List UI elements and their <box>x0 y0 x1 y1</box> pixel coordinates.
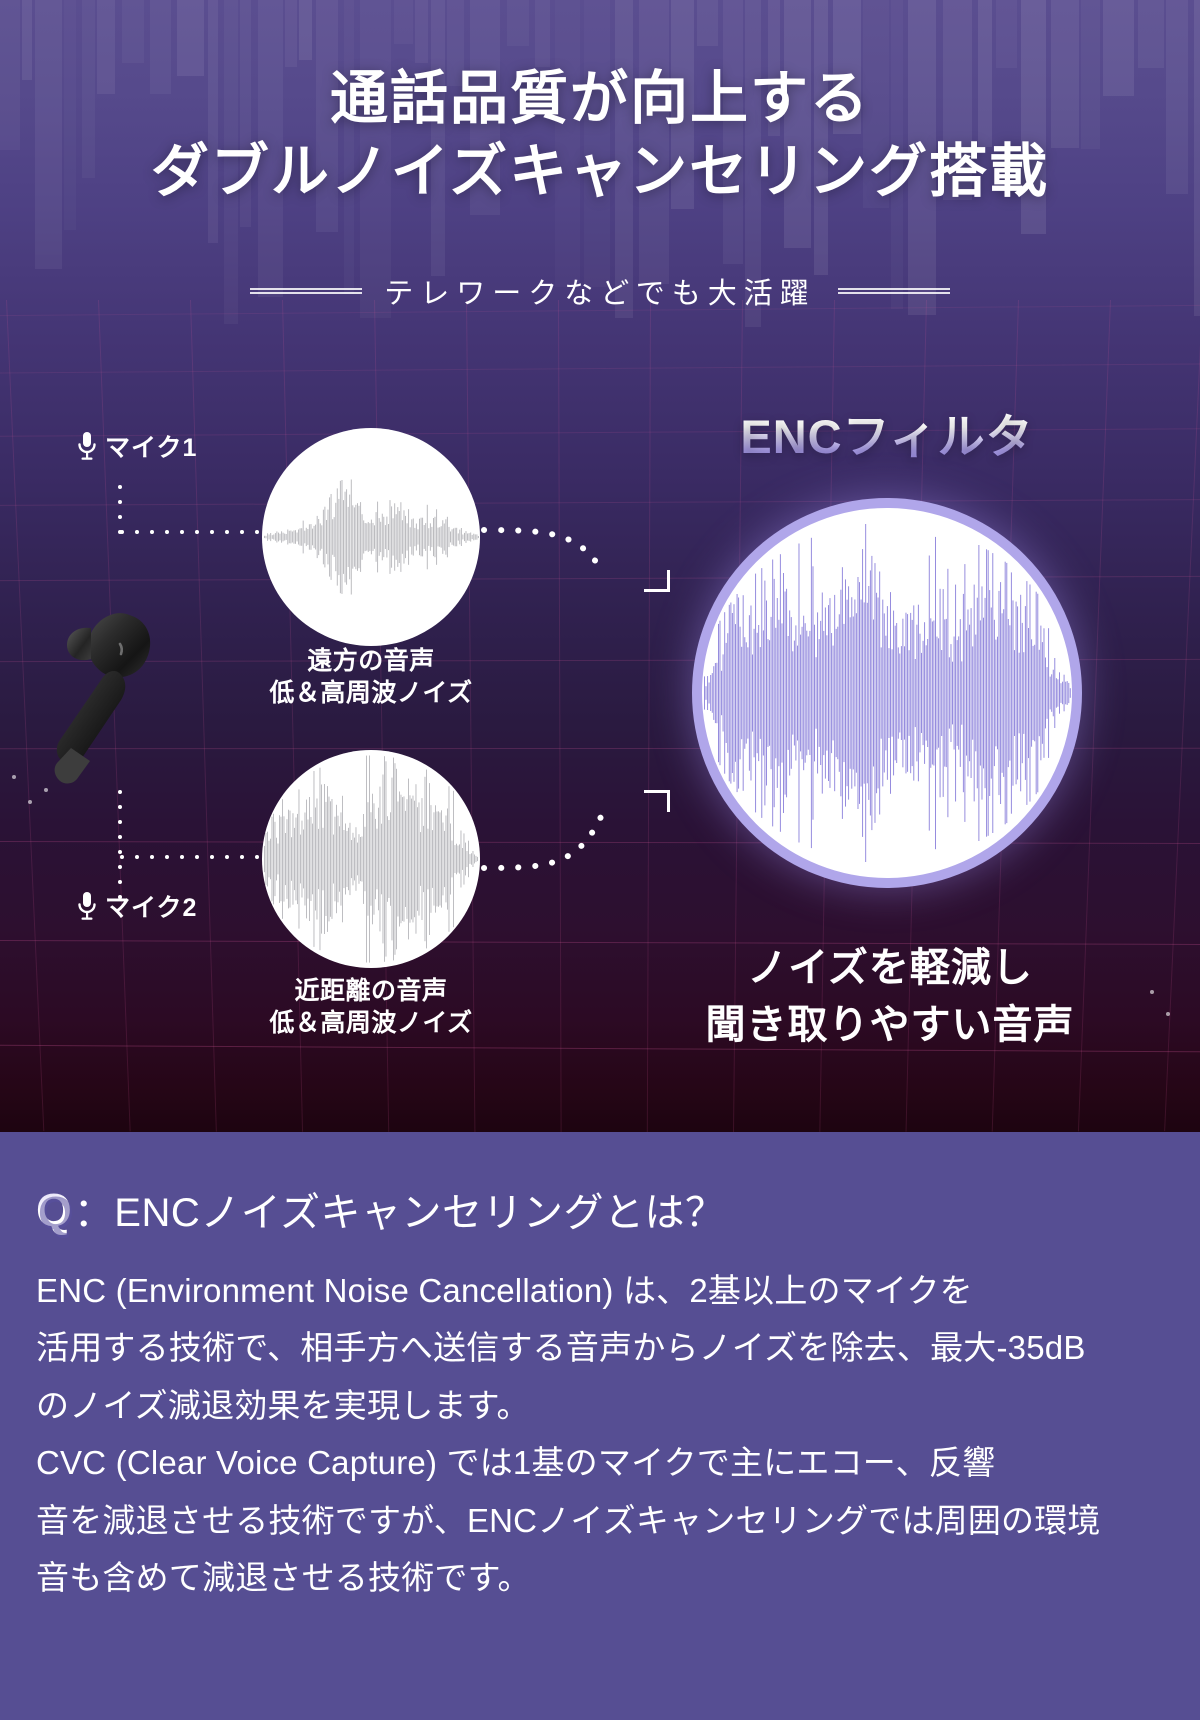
mic-1-label-text: マイク1 <box>105 428 197 464</box>
hero-section: 通話品質が向上する ダブルノイズキャンセリング搭載 テレワークなどでも大活躍 マ… <box>0 0 1200 1132</box>
caption-mic2-line2: 低＆高周波ノイズ <box>211 1007 531 1039</box>
hero-title-line-2: ダブルノイズキャンセリング搭載 <box>0 135 1200 208</box>
dotted-connector-mic2 <box>118 790 122 910</box>
infographic-page: 通話品質が向上する ダブルノイズキャンセリング搭載 テレワークなどでも大活躍 マ… <box>0 0 1200 1720</box>
caption-mic1-line1: 遠方の音声 <box>211 645 531 677</box>
waveform-grey-sparse <box>262 428 480 646</box>
waveform-circle-mic1 <box>262 428 480 646</box>
qa-answer-line-5: 音を減退させる技術ですが、ENCノイズキャンセリングでは周囲の環境 <box>36 1492 1171 1549</box>
hero-title-block: 通話品質が向上する ダブルノイズキャンセリング搭載 <box>0 62 1200 208</box>
enc-caption-line2: 聞き取りやすい音声 <box>640 997 1140 1054</box>
qa-section: Q ： ENCノイズキャンセリングとは？ ENC (Environment No… <box>0 1132 1200 1720</box>
subtitle-rule-right <box>838 288 950 294</box>
qa-answer-line-6: 音も含めて減退させる技術です。 <box>36 1549 1171 1606</box>
qa-question-line: Q ： ENCノイズキャンセリングとは？ <box>36 1180 726 1238</box>
qa-answer-line-3: のノイズ減退効果を実現します。 <box>36 1377 1171 1434</box>
microphone-icon <box>76 431 98 461</box>
enc-filter-title: ENCフィルタ <box>692 398 1082 467</box>
arrow-corner-top <box>644 570 670 592</box>
mic-1-label-group: マイク1 <box>76 428 197 464</box>
qa-answer-line-2: 活用する技術で、相手方へ送信する音声からノイズを除去、最大-35dB <box>36 1319 1171 1376</box>
qa-answer-line-4: CVC (Clear Voice Capture) では1基のマイクで主にエコー… <box>36 1434 1171 1491</box>
hero-title-line-1: 通話品質が向上する <box>0 62 1200 135</box>
dotted-connector-mic1 <box>118 485 122 545</box>
qa-answer-line-1: ENC (Environment Noise Cancellation) は、2… <box>36 1262 1171 1319</box>
earbud-icon <box>46 600 176 790</box>
question-mark-letter: Q <box>36 1183 72 1237</box>
caption-mic1: 遠方の音声 低＆高周波ノイズ <box>211 645 531 709</box>
enc-caption-line1: ノイズを軽減し <box>640 940 1140 997</box>
enc-output-caption: ノイズを軽減し 聞き取りやすい音声 <box>640 940 1140 1054</box>
caption-mic2: 近距離の音声 低＆高周波ノイズ <box>211 975 531 1039</box>
hero-subtitle: テレワークなどでも大活躍 <box>384 270 815 312</box>
dotted-line-to-circle-2 <box>120 855 270 859</box>
question-text: ENCノイズキャンセリングとは？ <box>114 1180 725 1238</box>
question-separator: ： <box>74 1180 115 1238</box>
arrow-corner-bottom <box>644 790 670 812</box>
dotted-line-to-circle-1 <box>120 530 270 534</box>
qa-answer-body: ENC (Environment Noise Cancellation) は、2… <box>36 1262 1171 1606</box>
waveform-grey-dense <box>262 750 480 968</box>
caption-mic1-line2: 低＆高周波ノイズ <box>211 677 531 709</box>
subtitle-rule-left <box>250 288 362 294</box>
mic-2-label-group: マイク2 <box>76 888 197 924</box>
caption-mic2-line1: 近距離の音声 <box>211 975 531 1007</box>
waveform-circle-mic2 <box>262 750 480 968</box>
waveform-purple-clean <box>702 508 1072 878</box>
microphone-icon <box>76 891 98 921</box>
hero-subtitle-row: テレワークなどでも大活躍 <box>0 270 1200 312</box>
waveform-circle-enc-output <box>692 498 1082 888</box>
